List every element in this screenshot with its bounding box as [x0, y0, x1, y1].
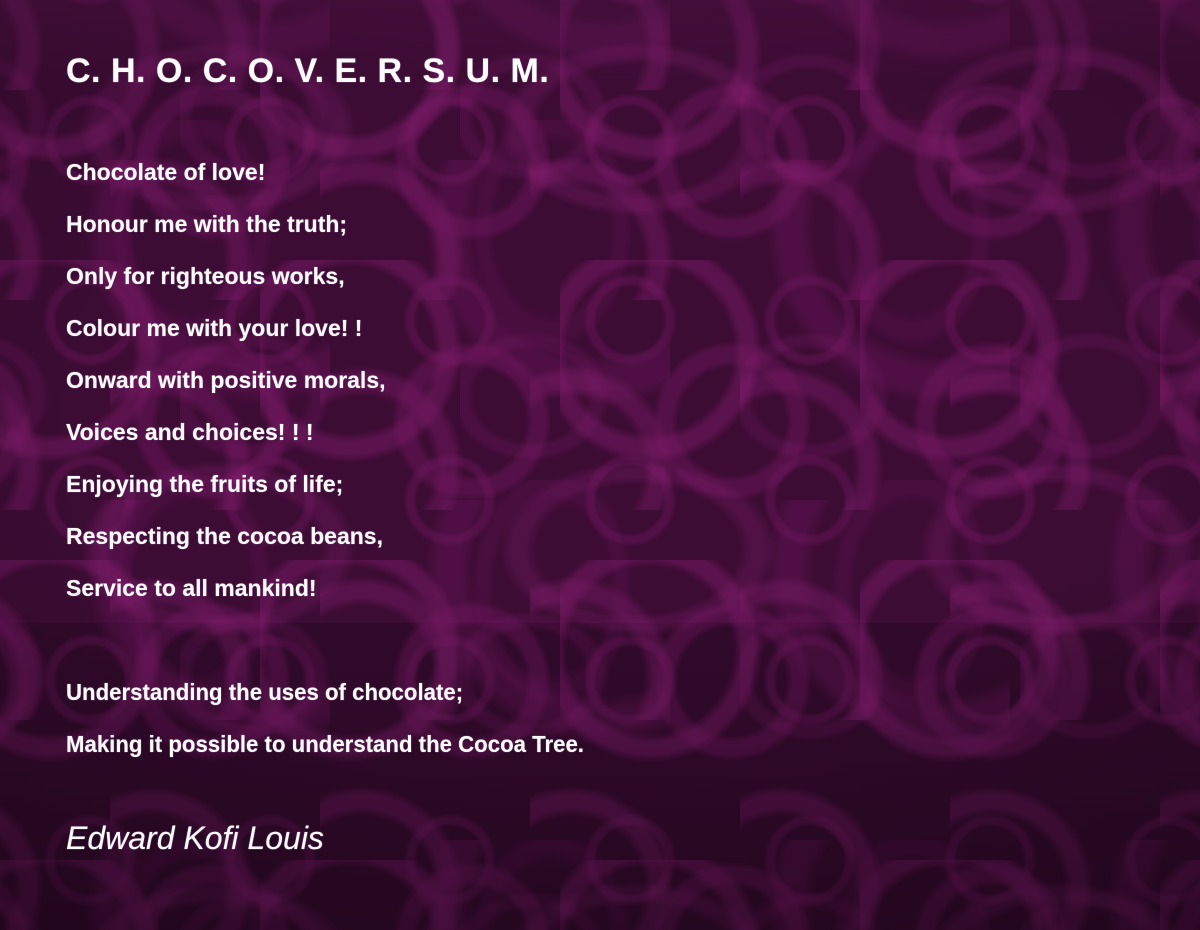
poem-line: Voices and choices! ! !: [66, 406, 1200, 458]
poem-line: Chocolate of love!: [66, 146, 1200, 198]
poem-line: Only for righteous works,: [66, 250, 1200, 302]
poem-title: C. H. O. C. O. V. E. R. S. U. M.: [66, 0, 1200, 91]
poem-line: Onward with positive morals,: [66, 354, 1200, 406]
poem-stanza-one: Chocolate of love! Honour me with the tr…: [66, 146, 1200, 614]
poem-content: C. H. O. C. O. V. E. R. S. U. M. Chocola…: [0, 0, 1200, 857]
poem-line: Respecting the cocoa beans,: [66, 510, 1200, 562]
poem-line: Service to all mankind!: [66, 562, 1200, 614]
poem-line: Enjoying the fruits of life;: [66, 458, 1200, 510]
poem-image-canvas: C. H. O. C. O. V. E. R. S. U. M. Chocola…: [0, 0, 1200, 930]
poem-line: Honour me with the truth;: [66, 198, 1200, 250]
poem-line: Making it possible to understand the Coc…: [66, 718, 1160, 770]
poem-author: Edward Kofi Louis: [66, 820, 1200, 857]
poem-line: Colour me with your love! !: [66, 302, 1200, 354]
poem-line: Understanding the uses of chocolate;: [66, 666, 1160, 718]
poem-stanza-two: Understanding the uses of chocolate; Mak…: [66, 666, 1200, 770]
